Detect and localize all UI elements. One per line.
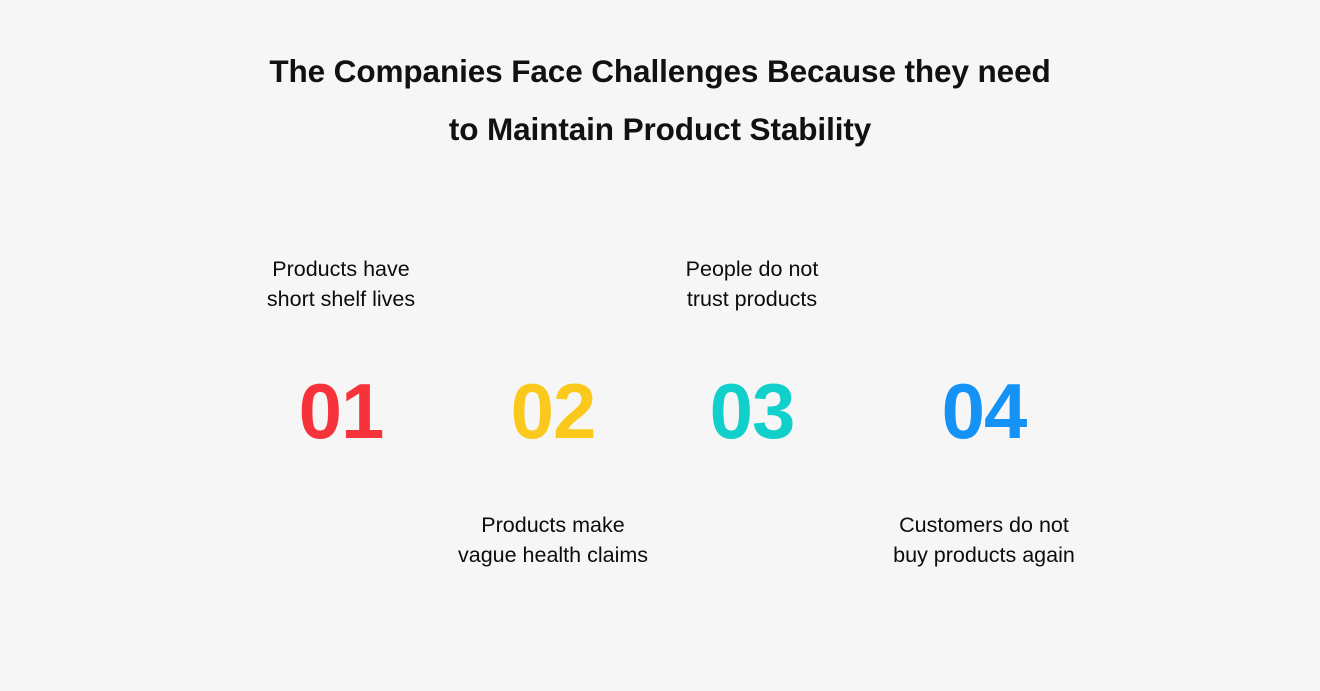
- step-item-04[interactable]: 04 Customers do not buy products again: [834, 232, 1134, 592]
- page-title: The Companies Face Challenges Because th…: [0, 42, 1320, 158]
- page-title-line-2: to Maintain Product Stability: [0, 100, 1320, 158]
- page-title-line-1: The Companies Face Challenges Because th…: [0, 42, 1320, 100]
- step-number-04: 04: [834, 372, 1134, 450]
- step-caption-04-line-1: Customers do not: [834, 510, 1134, 540]
- step-caption-04-line-2: buy products again: [834, 540, 1134, 570]
- steps-row: Products have short shelf lives 01 02 Pr…: [0, 232, 1320, 592]
- slide-canvas: The Companies Face Challenges Because th…: [0, 0, 1320, 691]
- step-caption-04: Customers do not buy products again: [834, 510, 1134, 570]
